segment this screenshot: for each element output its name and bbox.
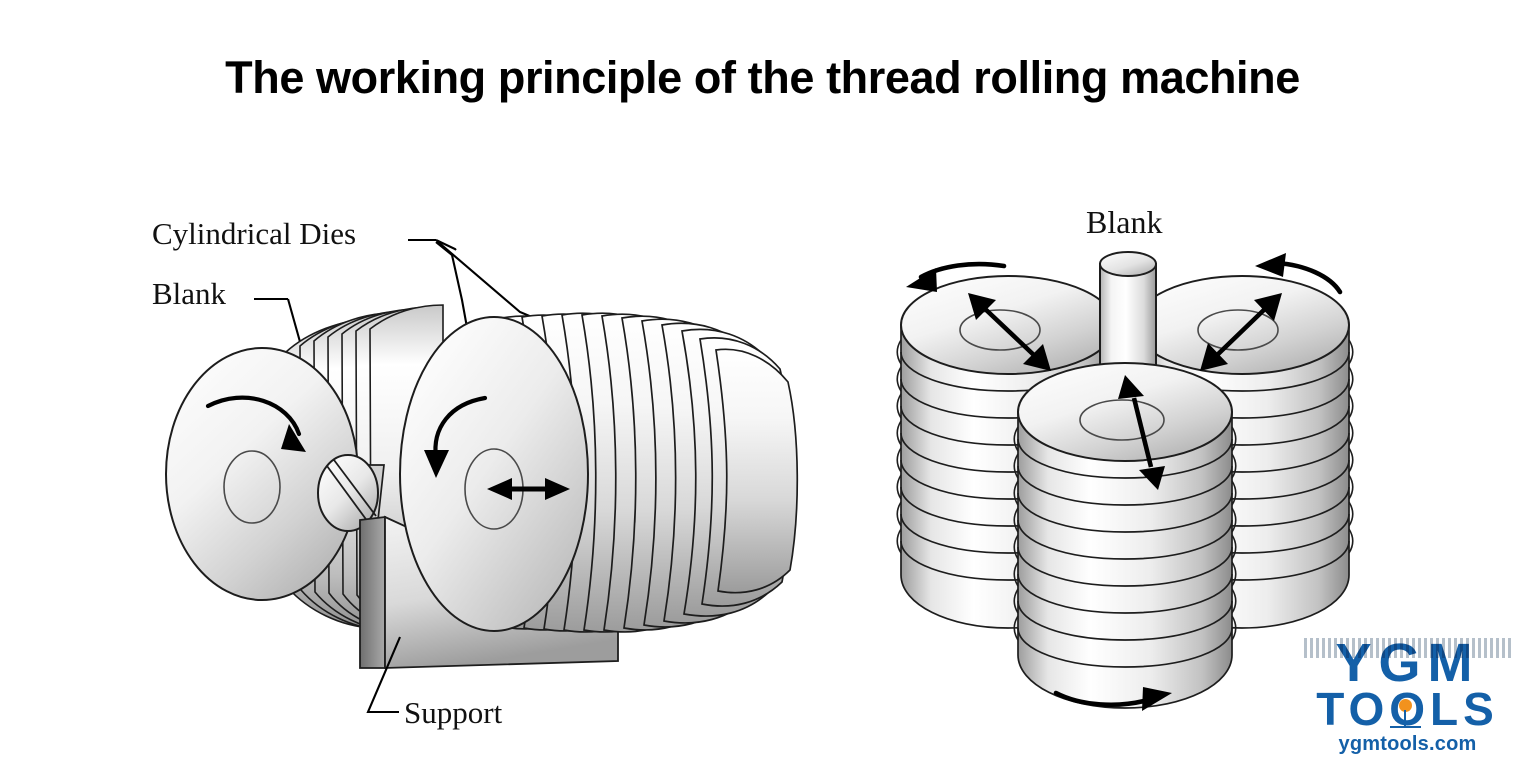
thread-rolling-illustration (0, 0, 1525, 774)
left-diagram (166, 240, 797, 712)
label-blank-right: Blank (1086, 206, 1162, 238)
die-front-face (400, 317, 588, 631)
logo-wordmark-ygm: YGM (1300, 636, 1515, 690)
logo-accent-base-icon (1390, 726, 1421, 728)
diagram-canvas: The working principle of the thread roll… (0, 0, 1525, 774)
right-diagram (897, 252, 1353, 711)
roller-front (1014, 363, 1236, 711)
logo-website-url[interactable]: ygmtools.com (1300, 734, 1515, 754)
logo-accent-stem-icon (1404, 710, 1406, 727)
ygm-tools-logo[interactable]: YGM TOOLS ygmtools.com (1300, 636, 1515, 768)
label-cylindrical-dies: Cylindrical Dies (152, 218, 356, 249)
label-blank-left: Blank (152, 278, 226, 309)
label-support: Support (404, 697, 502, 728)
roller-right-top (1135, 276, 1349, 374)
die-front (400, 313, 797, 632)
